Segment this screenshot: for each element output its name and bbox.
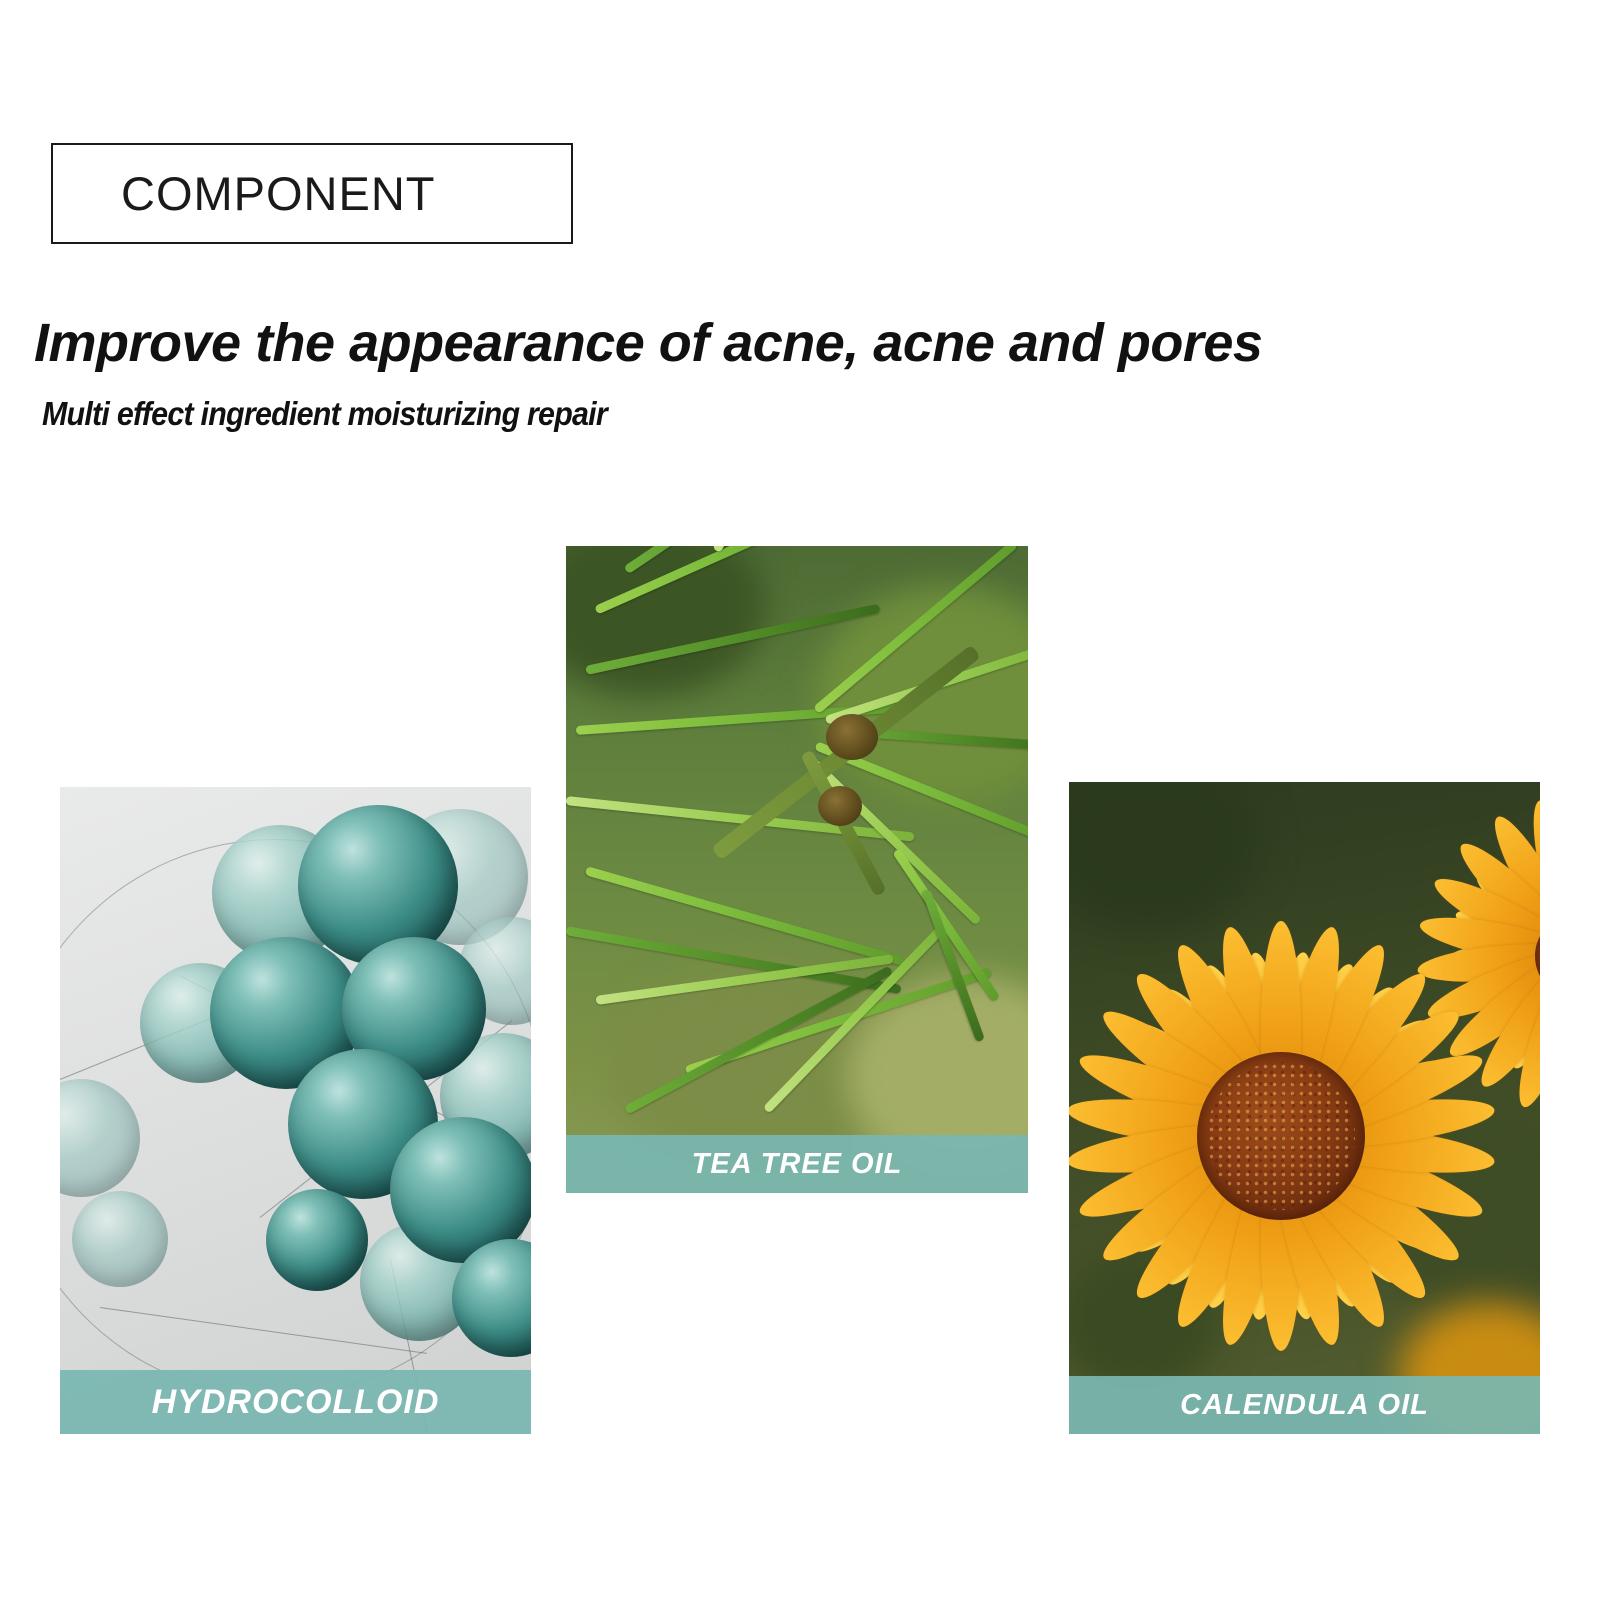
ingredient-card-calendula-oil: CALENDULA OIL	[1069, 782, 1540, 1434]
tea-tree-oil-image	[566, 546, 1028, 1193]
hydrocolloid-caption: HYDROCOLLOID	[60, 1370, 531, 1434]
component-badge-label: COMPONENT	[121, 166, 436, 221]
page-headline: Improve the appearance of acne, acne and…	[34, 312, 1574, 374]
tea-tree-oil-caption: TEA TREE OIL	[566, 1135, 1028, 1193]
component-badge: COMPONENT	[51, 143, 573, 244]
ingredient-card-tea-tree-oil: TEA TREE OIL	[566, 546, 1028, 1193]
calendula-oil-caption: CALENDULA OIL	[1069, 1376, 1540, 1434]
ingredient-card-hydrocolloid: HYDROCOLLOID	[60, 787, 531, 1434]
calendula-oil-image	[1069, 782, 1540, 1434]
page-subheadline: Multi effect ingredient moisturizing rep…	[42, 395, 607, 433]
hydrocolloid-image	[60, 787, 531, 1434]
